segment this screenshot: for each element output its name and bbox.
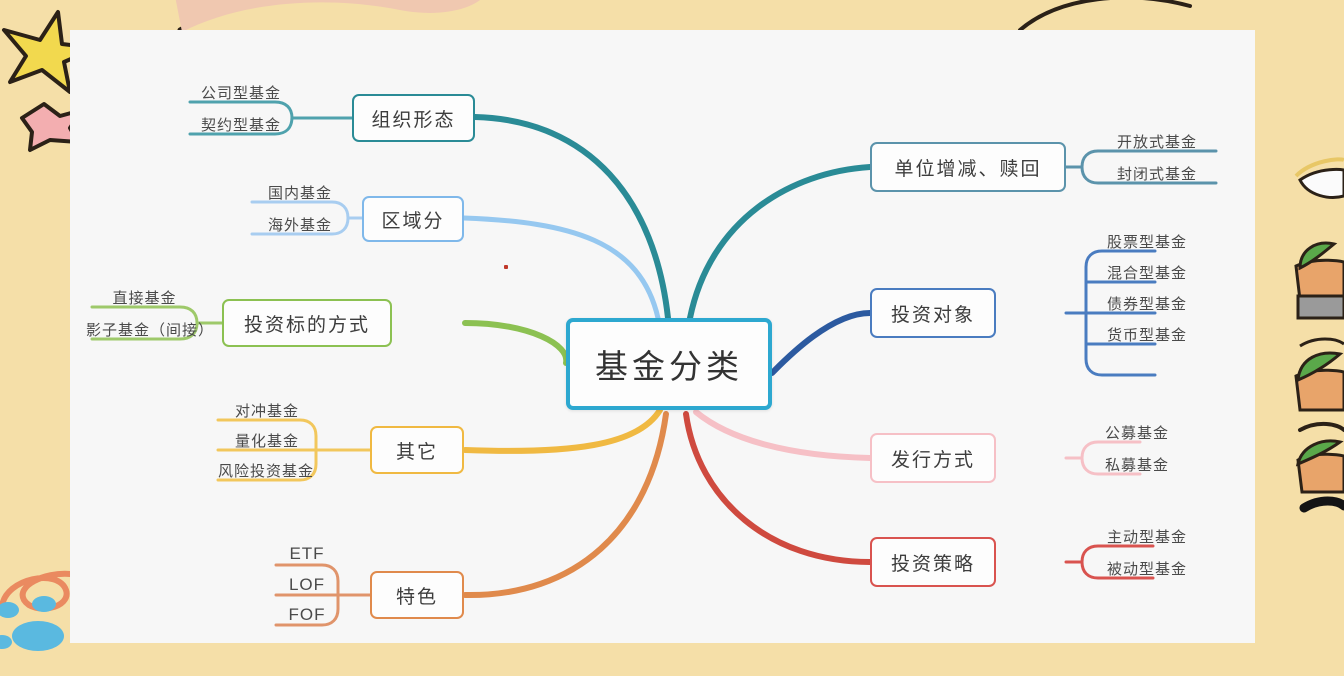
leaf-label[interactable]: 对冲基金	[218, 400, 316, 421]
leaf-label[interactable]: 混合型基金	[1088, 262, 1206, 283]
edge-investment-object	[772, 313, 870, 373]
branch-node-features[interactable]: 特色	[370, 571, 464, 619]
leaf-label[interactable]: 影子基金（间接）	[86, 319, 201, 340]
edge-issue-method	[696, 412, 870, 458]
leaf-label[interactable]: 私募基金	[1082, 454, 1192, 475]
branch-node-issue-method[interactable]: 发行方式	[870, 433, 996, 483]
edge-features	[465, 414, 666, 595]
leaf-label[interactable]: 海外基金	[252, 214, 348, 235]
brush-stroke-doodle	[180, 0, 478, 30]
leaf-label[interactable]: FOF	[276, 605, 338, 625]
center-node-fund-classification[interactable]: 基金分类	[566, 318, 772, 410]
edge-investment-target-method	[465, 323, 566, 363]
brush-stroke-fill	[170, 0, 486, 32]
edge-region	[464, 218, 658, 318]
edge-investment-strategy	[686, 414, 870, 562]
leaf-label[interactable]: 被动型基金	[1088, 558, 1206, 579]
branch-node-others[interactable]: 其它	[370, 426, 464, 474]
leaf-label[interactable]: 公募基金	[1082, 422, 1192, 443]
edge-organization-form	[475, 117, 668, 318]
leaf-label[interactable]: 货币型基金	[1088, 324, 1206, 345]
leaf-label[interactable]: 国内基金	[252, 182, 348, 203]
branch-node-unit-change-redemption[interactable]: 单位增减、赎回	[870, 142, 1066, 192]
cursor-dot	[504, 265, 508, 269]
leaf-label[interactable]: LOF	[276, 575, 338, 595]
branch-node-organization-form[interactable]: 组织形态	[352, 94, 475, 142]
plant-doodles	[1296, 159, 1344, 508]
leaf-label[interactable]: 公司型基金	[190, 82, 292, 103]
branch-node-region[interactable]: 区域分	[362, 196, 464, 242]
leaf-label[interactable]: 风险投资基金	[210, 460, 322, 481]
branch-node-investment-target-method[interactable]: 投资标的方式	[222, 299, 392, 347]
leaf-label[interactable]: 量化基金	[218, 430, 316, 451]
edge-unit-change-redemption	[690, 167, 870, 318]
leaf-label[interactable]: ETF	[276, 544, 338, 564]
paw-doodle	[0, 596, 64, 651]
mindmap-canvas: 基金分类 组织形态 区域分 投资标的方式 其它 特色 单位增减、赎回 投资对象 …	[70, 30, 1255, 643]
swirl-doodle	[2, 574, 70, 609]
arc-doodle-top-right	[1020, 0, 1190, 30]
branch-node-investment-strategy[interactable]: 投资策略	[870, 537, 996, 587]
leaf-label[interactable]: 封闭式基金	[1098, 163, 1216, 184]
leaf-label[interactable]: 直接基金	[92, 287, 197, 308]
leaf-label[interactable]: 契约型基金	[190, 114, 292, 135]
leaf-label[interactable]: 股票型基金	[1088, 231, 1206, 252]
leaf-label[interactable]: 主动型基金	[1088, 526, 1206, 547]
edge-others	[465, 410, 660, 451]
leaf-label[interactable]: 债券型基金	[1088, 293, 1206, 314]
branch-node-investment-object[interactable]: 投资对象	[870, 288, 996, 338]
leaf-label[interactable]: 开放式基金	[1098, 131, 1216, 152]
